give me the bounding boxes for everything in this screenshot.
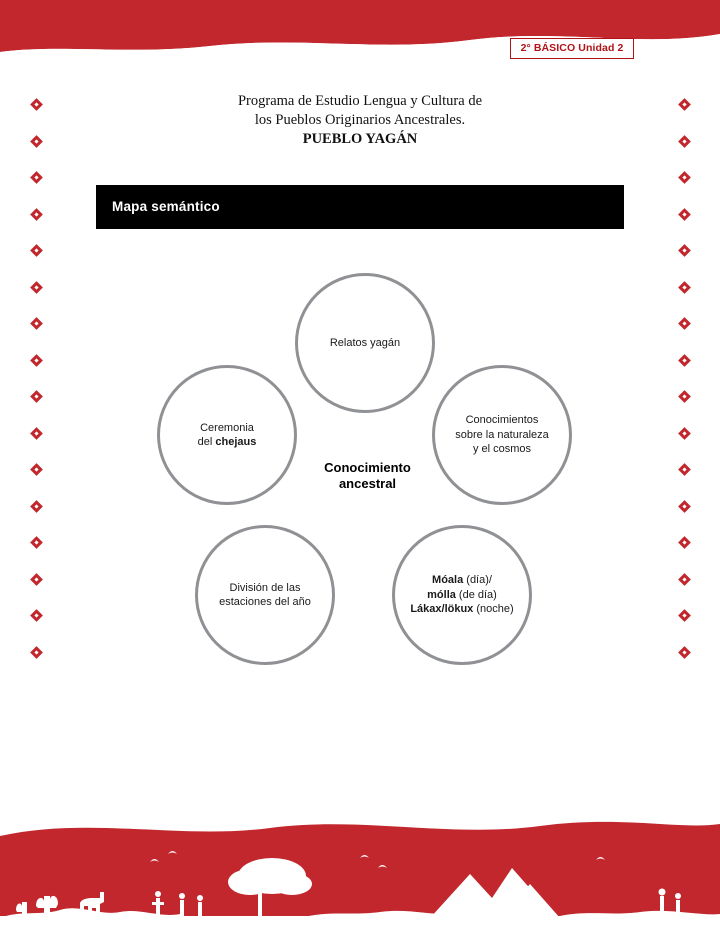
node-moala-line-2-bold: mólla bbox=[427, 589, 456, 601]
diamond-icon bbox=[30, 135, 43, 148]
document-header: Programa de Estudio Lengua y Cultura de … bbox=[120, 92, 600, 149]
diamond-icon bbox=[30, 98, 43, 111]
header-line-1: Programa de Estudio Lengua y Cultura de bbox=[120, 92, 600, 111]
diamond-icon bbox=[30, 536, 43, 549]
unit-badge: 2° BÁSICO Unidad 2 bbox=[510, 38, 634, 59]
diamond-icon bbox=[678, 463, 691, 476]
header-line-2: los Pueblos Originarios Ancestrales. bbox=[120, 111, 600, 130]
node-relatos-yagan-label: Relatos yagán bbox=[330, 337, 400, 349]
diamond-icon bbox=[678, 98, 691, 111]
diamond-icon bbox=[678, 354, 691, 367]
diamond-icon bbox=[30, 500, 43, 513]
diamond-icon bbox=[30, 463, 43, 476]
node-conocimientos-line-3: y el cosmos bbox=[473, 443, 531, 455]
center-label-line-2: ancestral bbox=[285, 476, 450, 492]
node-moala-lakax: Móala (día)/ mólla (de día) Lákax/lökux … bbox=[392, 525, 532, 665]
diamond-icon bbox=[30, 390, 43, 403]
diamond-icon bbox=[678, 573, 691, 586]
diamond-icon bbox=[678, 135, 691, 148]
node-moala-line-3-bold: Lákax/lökux bbox=[410, 603, 473, 615]
diamond-icon bbox=[30, 609, 43, 622]
diamond-icon bbox=[30, 646, 43, 659]
diagram-center-label: Conocimiento ancestral bbox=[285, 460, 450, 492]
diamond-icon bbox=[30, 171, 43, 184]
node-division-line-2: estaciones del año bbox=[219, 596, 311, 608]
node-division-estaciones: División de las estaciones del año bbox=[195, 525, 335, 665]
left-decorative-rail bbox=[28, 100, 44, 700]
diamond-icon bbox=[678, 281, 691, 294]
diamond-icon bbox=[30, 317, 43, 330]
node-moala-line-3-plain: (noche) bbox=[473, 603, 513, 615]
node-division-line-1: División de las bbox=[230, 582, 301, 594]
node-relatos-yagan: Relatos yagán bbox=[295, 273, 435, 413]
section-bar: Mapa semántico bbox=[96, 185, 624, 229]
bottom-illustration-band bbox=[0, 810, 720, 932]
diamond-icon bbox=[30, 244, 43, 257]
node-ceremonia-chejaus: Ceremonia del chejaus bbox=[157, 365, 297, 505]
node-conocimientos-line-1: Conocimientos bbox=[466, 414, 539, 426]
document-page: 2° BÁSICO Unidad 2 bbox=[0, 0, 720, 932]
diamond-icon bbox=[30, 208, 43, 221]
node-ceremonia-line-2-bold: chejaus bbox=[215, 436, 256, 448]
diamond-icon bbox=[678, 427, 691, 440]
node-ceremonia-line-1: Ceremonia bbox=[200, 422, 254, 434]
header-line-3: PUEBLO YAGÁN bbox=[120, 130, 600, 149]
node-conocimientos-line-2: sobre la naturaleza bbox=[455, 429, 549, 441]
diamond-icon bbox=[678, 500, 691, 513]
diamond-icon bbox=[678, 171, 691, 184]
diamond-icon bbox=[30, 281, 43, 294]
node-ceremonia-line-2-plain: del bbox=[198, 436, 216, 448]
node-moala-line-1-plain: (día)/ bbox=[463, 574, 492, 586]
diamond-icon bbox=[678, 208, 691, 221]
diamond-icon bbox=[678, 317, 691, 330]
diamond-icon bbox=[678, 609, 691, 622]
diamond-icon bbox=[678, 390, 691, 403]
node-moala-line-1-bold: Móala bbox=[432, 574, 463, 586]
right-decorative-rail bbox=[676, 100, 692, 700]
node-moala-line-2-plain: (de día) bbox=[456, 589, 497, 601]
section-title: Mapa semántico bbox=[112, 199, 220, 214]
diamond-icon bbox=[30, 354, 43, 367]
center-label-line-1: Conocimiento bbox=[285, 460, 450, 476]
diamond-icon bbox=[30, 427, 43, 440]
semantic-map-diagram: Relatos yagán Conocimientos sobre la nat… bbox=[140, 255, 590, 675]
diamond-icon bbox=[678, 536, 691, 549]
diamond-icon bbox=[678, 646, 691, 659]
diamond-icon bbox=[678, 244, 691, 257]
diamond-icon bbox=[30, 573, 43, 586]
node-conocimientos-naturaleza: Conocimientos sobre la naturaleza y el c… bbox=[432, 365, 572, 505]
